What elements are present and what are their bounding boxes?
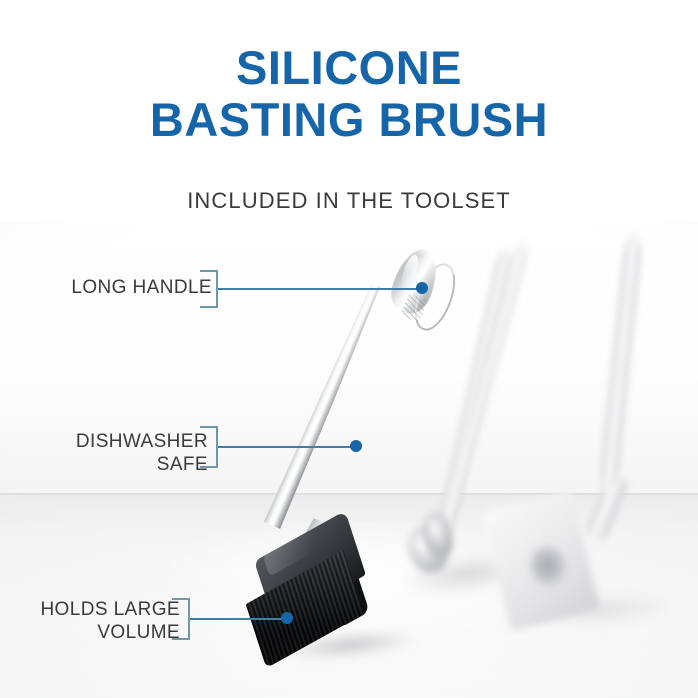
title-line-1: SILICONE xyxy=(0,42,698,94)
brush-handle-highlight xyxy=(261,281,386,530)
callout-dot-long-handle xyxy=(416,282,428,294)
title-line-2: BASTING BRUSH xyxy=(0,94,698,146)
callout-leader-dishwasher-safe xyxy=(218,446,357,448)
page-subtitle: INCLUDED IN THE TOOLSET xyxy=(0,188,698,214)
callout-dot-holds-large-volume xyxy=(281,612,293,624)
infographic-canvas: SILICONE BASTING BRUSH INCLUDED IN THE T… xyxy=(0,0,698,698)
page-title: SILICONE BASTING BRUSH xyxy=(0,42,698,146)
callout-label-holds-large-volume: HOLDS LARGE VOLUME xyxy=(8,598,180,644)
callout-label-dishwasher-safe: DISHWASHER SAFE xyxy=(36,430,208,476)
callout-leader-long-handle xyxy=(218,288,422,290)
callout-dot-dishwasher-safe xyxy=(350,440,362,452)
callout-leader-holds-large-volume xyxy=(190,618,288,620)
callout-label-long-handle: LONG HANDLE xyxy=(36,276,212,299)
